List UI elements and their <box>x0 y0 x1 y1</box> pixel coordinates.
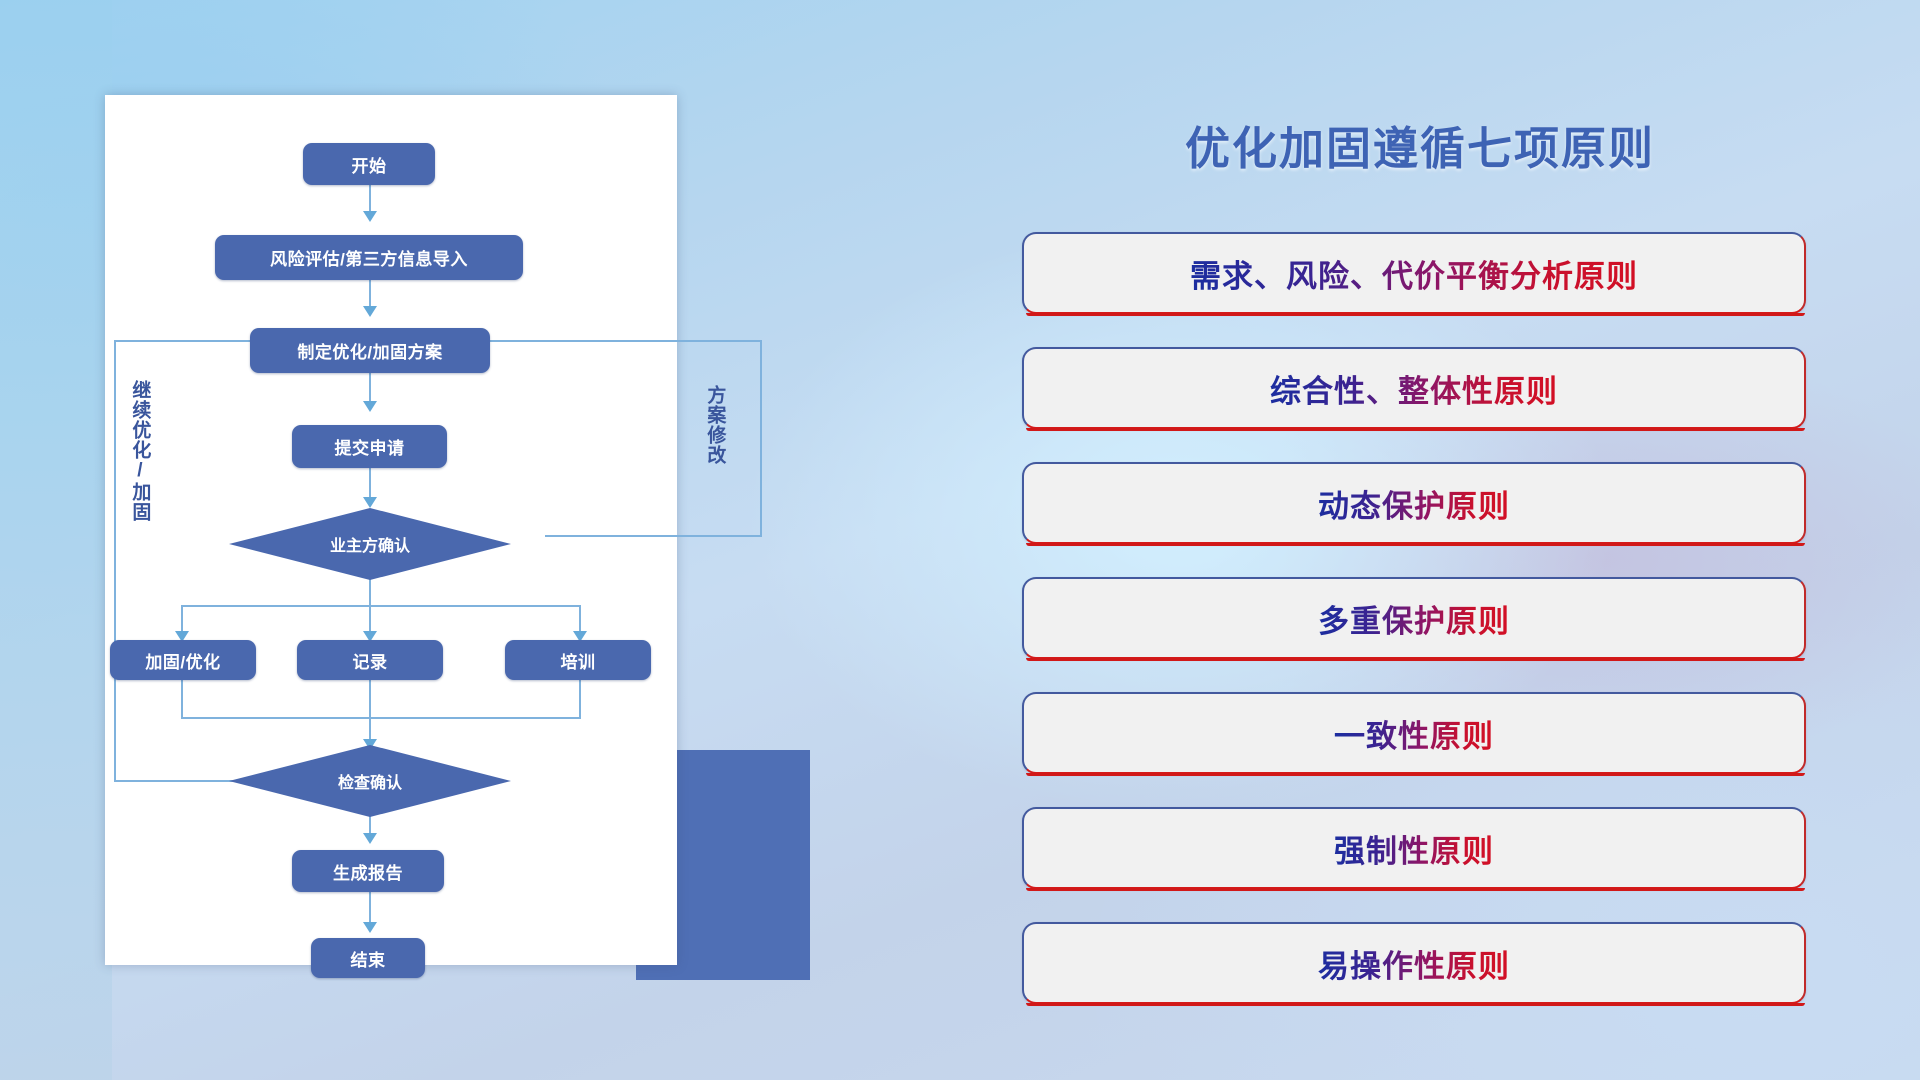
flow-node-record[interactable]: 记录 <box>297 640 443 680</box>
principle-label: 多重保护原则 <box>1318 596 1510 641</box>
flow-node-owner-confirm[interactable]: 业主方确认 <box>229 508 511 580</box>
principle-label: 易操作性原则 <box>1318 941 1510 986</box>
principle-label: 一致性原则 <box>1334 711 1494 756</box>
arrow-submit-to-owner <box>363 497 377 508</box>
flow-node-training-label: 培训 <box>561 648 596 673</box>
flow-node-training[interactable]: 培训 <box>505 640 651 680</box>
principles-panel-title: 优化加固遵循七项原则 <box>1020 112 1820 177</box>
flow-node-risk-assessment[interactable]: 风险评估/第三方信息导入 <box>215 235 523 280</box>
flow-node-check-confirm[interactable]: 检查确认 <box>229 745 511 817</box>
arrow-start-to-risk <box>363 211 377 222</box>
background-left-band <box>0 0 112 1080</box>
connector-right-loop-bottom <box>545 535 762 537</box>
connector-merge-to-check <box>369 679 371 745</box>
flow-node-reinforce-optimize[interactable]: 加固/优化 <box>110 640 256 680</box>
flow-node-end-label: 结束 <box>351 946 386 971</box>
flow-node-submit-application-label: 提交申请 <box>335 434 405 459</box>
arrow-plan-to-submit <box>363 401 377 412</box>
connector-left-loop-vertical <box>114 340 116 782</box>
arrow-check-to-report <box>363 833 377 844</box>
principle-item[interactable]: 需求、风险、代价平衡分析原则 <box>1022 232 1806 314</box>
arrow-risk-to-plan <box>363 306 377 317</box>
flow-node-generate-report[interactable]: 生成报告 <box>292 850 444 892</box>
connector-owner-fanout <box>181 605 581 607</box>
flow-node-submit-application[interactable]: 提交申请 <box>292 425 447 468</box>
flowchart-card: 开始 风险评估/第三方信息导入 制定优化/加固方案 提交申请 业主方确认 加固/… <box>105 95 677 965</box>
principle-label: 综合性、整体性原则 <box>1270 366 1558 411</box>
principle-label: 强制性原则 <box>1334 826 1494 871</box>
edge-label-continue-optimize: 继续优化/加固 <box>130 380 149 540</box>
principle-item[interactable]: 一致性原则 <box>1022 692 1806 774</box>
connector-right-loop-vertical <box>760 340 762 537</box>
flow-node-reinforce-optimize-label: 加固/优化 <box>145 648 220 673</box>
flow-node-risk-assessment-label: 风险评估/第三方信息导入 <box>270 245 468 270</box>
connector-reinforce-down <box>181 679 183 719</box>
flow-node-generate-report-label: 生成报告 <box>333 859 403 884</box>
flow-node-start-label: 开始 <box>352 152 387 177</box>
principle-item[interactable]: 强制性原则 <box>1022 807 1806 889</box>
principle-item[interactable]: 综合性、整体性原则 <box>1022 347 1806 429</box>
principles-list: 需求、风险、代价平衡分析原则 综合性、整体性原则 动态保护原则 多重保护原则 一… <box>1022 232 1806 1037</box>
flow-node-plan-label: 制定优化/加固方案 <box>297 338 442 363</box>
connector-train-down <box>579 679 581 719</box>
principle-label: 需求、风险、代价平衡分析原则 <box>1190 251 1638 296</box>
edge-label-plan-revision: 方案修改 <box>705 385 724 515</box>
flow-node-plan[interactable]: 制定优化/加固方案 <box>250 328 490 373</box>
principle-item[interactable]: 动态保护原则 <box>1022 462 1806 544</box>
principle-item[interactable]: 易操作性原则 <box>1022 922 1806 1004</box>
flow-node-check-confirm-label: 检查确认 <box>338 769 402 793</box>
principle-label: 动态保护原则 <box>1318 481 1510 526</box>
principle-item[interactable]: 多重保护原则 <box>1022 577 1806 659</box>
flow-node-start[interactable]: 开始 <box>303 143 435 185</box>
flow-node-owner-confirm-label: 业主方确认 <box>330 532 410 556</box>
connector-merge <box>181 717 581 719</box>
flow-node-record-label: 记录 <box>353 648 388 673</box>
arrow-report-to-end <box>363 922 377 933</box>
connector-right-loop-top <box>457 340 762 342</box>
flow-node-end[interactable]: 结束 <box>311 938 425 978</box>
